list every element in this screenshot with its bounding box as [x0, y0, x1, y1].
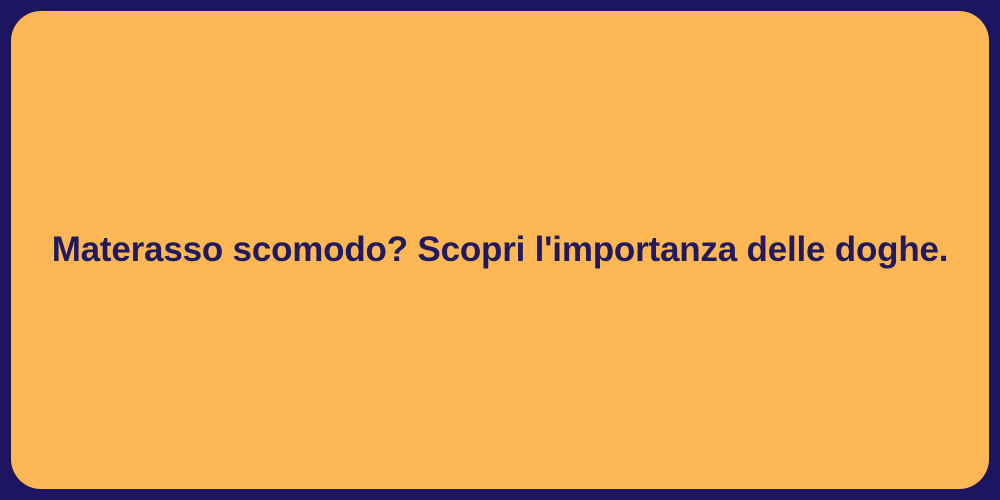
banner-frame: Materasso scomodo? Scopri l'importanza d…	[0, 0, 1000, 500]
banner-card: Materasso scomodo? Scopri l'importanza d…	[11, 11, 989, 489]
banner-headline: Materasso scomodo? Scopri l'importanza d…	[12, 228, 989, 272]
